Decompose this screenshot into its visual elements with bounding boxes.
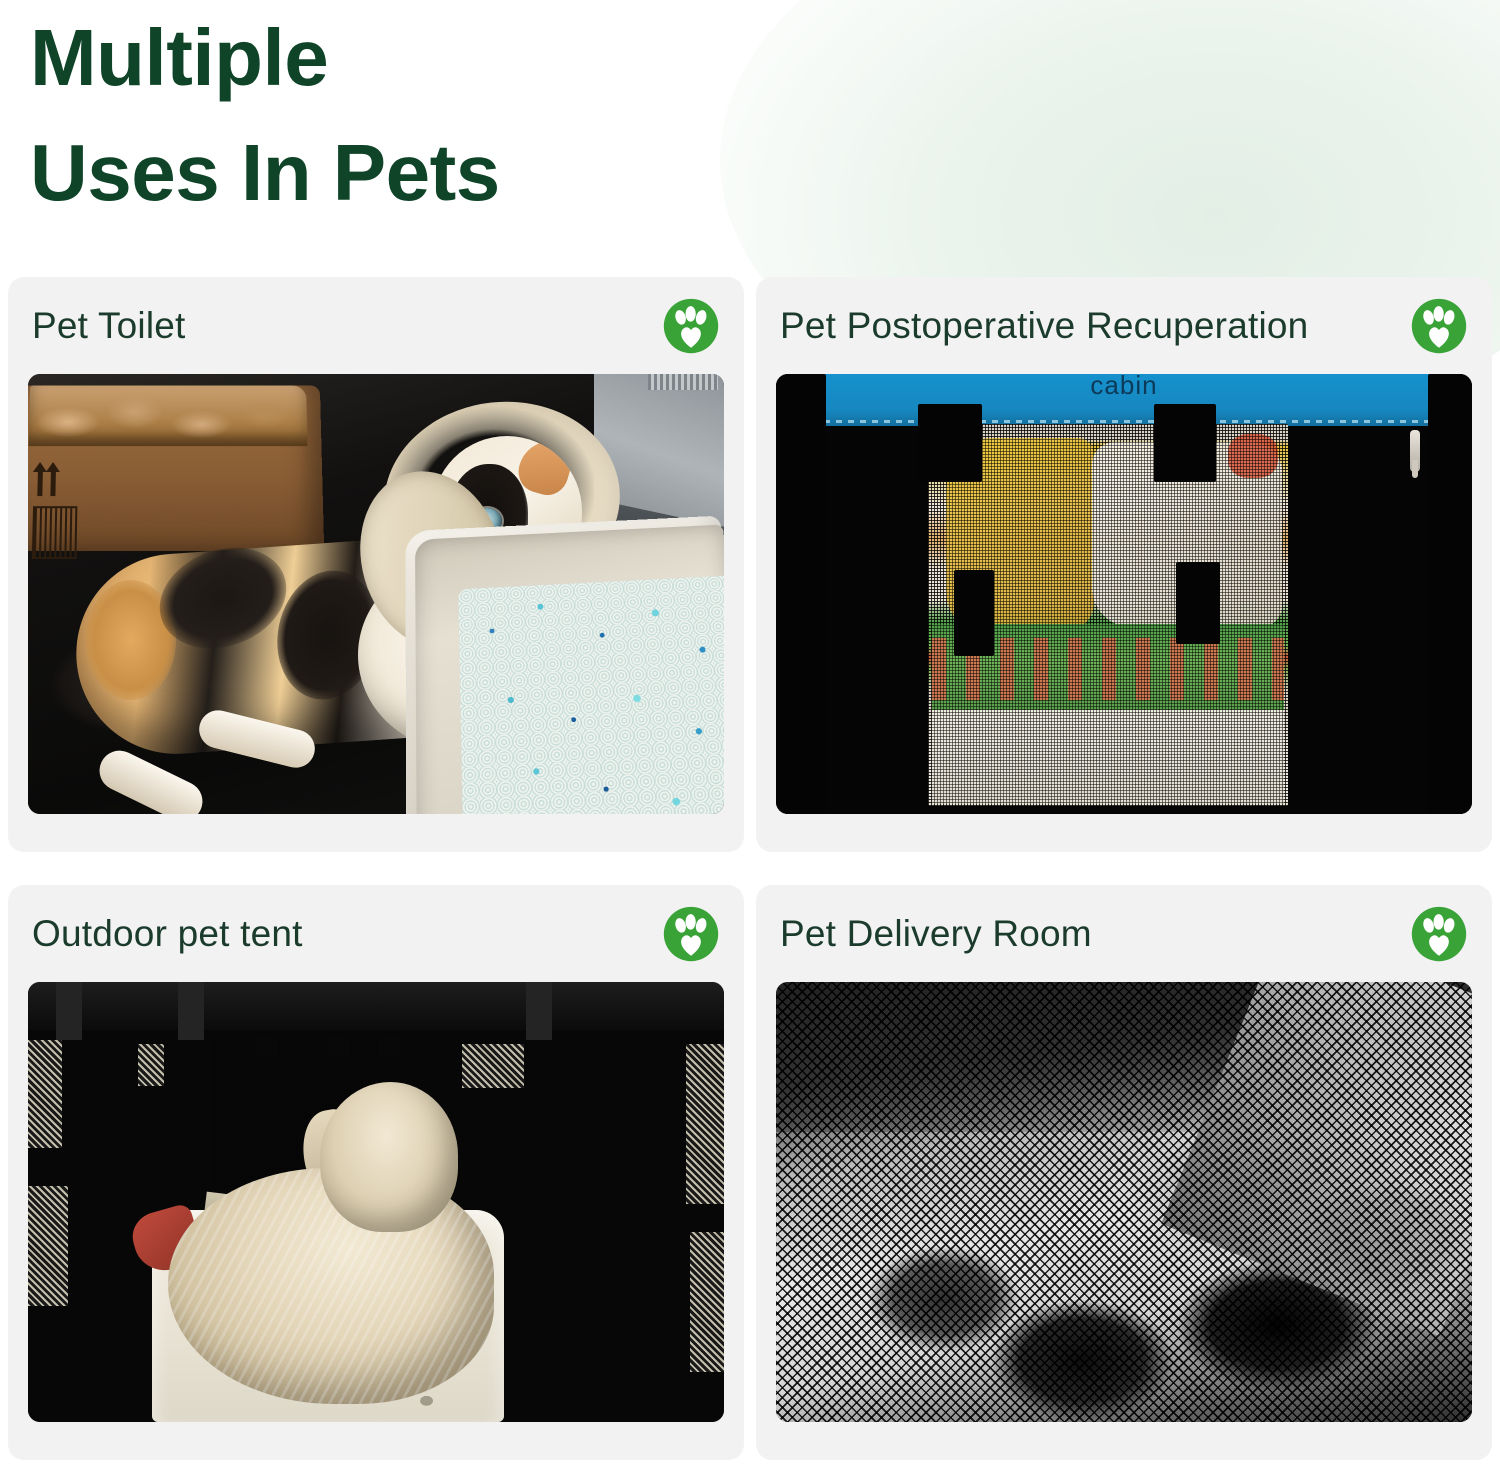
card-title: Pet Postoperative Recuperation — [780, 307, 1308, 344]
paw-icon — [662, 905, 720, 963]
card-header: Pet Postoperative Recuperation — [756, 277, 1492, 374]
page-title: Multiple Uses In Pets — [30, 0, 850, 230]
photo-pet-postoperative-recuperation: cabin — [776, 374, 1472, 814]
card-pet-toilet[interactable]: Pet Toilet — [8, 277, 744, 852]
card-pet-postoperative-recuperation[interactable]: Pet Postoperative Recuperation cabin — [756, 277, 1492, 852]
page-title-line-1: Multiple — [30, 0, 850, 115]
card-title: Outdoor pet tent — [32, 915, 303, 952]
paw-icon — [1410, 905, 1468, 963]
card-pet-delivery-room[interactable]: Pet Delivery Room — [756, 885, 1492, 1460]
card-header: Pet Toilet — [8, 277, 744, 374]
paw-icon — [662, 297, 720, 355]
card-header: Pet Delivery Room — [756, 885, 1492, 982]
card-outdoor-pet-tent[interactable]: Outdoor pet tent — [8, 885, 744, 1460]
photo-pet-delivery-room — [776, 982, 1472, 1422]
page-title-line-2: Uses In Pets — [30, 115, 850, 230]
card-header: Outdoor pet tent — [8, 885, 744, 982]
infographic-page: Multiple Uses In Pets Pet Toilet — [0, 0, 1500, 1466]
feature-card-grid: Pet Toilet — [8, 277, 1492, 1460]
paw-icon — [1410, 297, 1468, 355]
card-title: Pet Toilet — [32, 307, 186, 344]
card-title: Pet Delivery Room — [780, 915, 1092, 952]
photo-outdoor-pet-tent — [28, 982, 724, 1422]
photo-pet-toilet — [28, 374, 724, 814]
photo-label-cabin: cabin — [776, 374, 1472, 401]
